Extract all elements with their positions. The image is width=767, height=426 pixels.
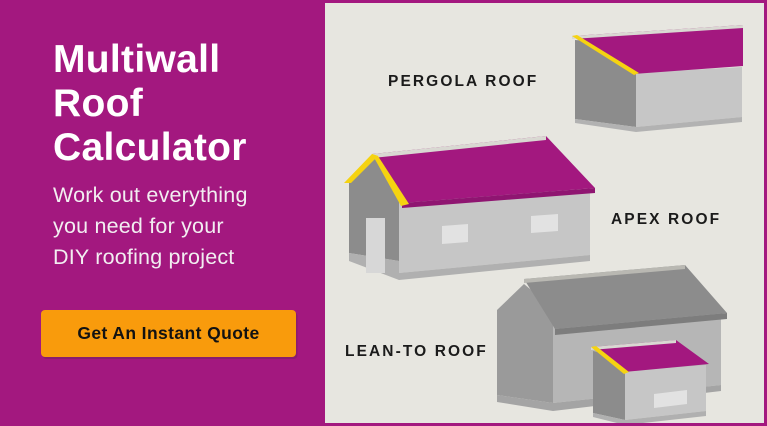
- apex-window-left: [442, 224, 468, 244]
- roof-illustration-area: PERGOLA ROOF APEX ROOF LEAN-TO ROOF: [325, 3, 764, 423]
- lean-to-roof-label: LEAN-TO ROOF: [345, 343, 488, 361]
- page-title: Multiwall Roof Calculator: [53, 38, 318, 170]
- pergola-roof-illustration: [572, 25, 743, 132]
- apex-roof-label: APEX ROOF: [611, 211, 721, 229]
- apex-window-right: [531, 214, 558, 233]
- illustration-panel: PERGOLA ROOF APEX ROOF LEAN-TO ROOF: [325, 0, 767, 426]
- lean-to-roof-illustration: [497, 265, 727, 423]
- leanto-extension-wall-front: [625, 365, 706, 420]
- pergola-wall-front: [636, 67, 742, 127]
- pergola-roof-label: PERGOLA ROOF: [388, 73, 538, 91]
- apex-door: [366, 218, 385, 273]
- get-instant-quote-button[interactable]: Get An Instant Quote: [41, 310, 296, 357]
- apex-roof-illustration: [344, 136, 595, 280]
- promo-banner: Multiwall Roof Calculator Work out every…: [0, 0, 767, 426]
- promo-text-panel: Multiwall Roof Calculator Work out every…: [0, 0, 325, 426]
- promo-subheadline: Work out everything you need for your DI…: [53, 180, 315, 273]
